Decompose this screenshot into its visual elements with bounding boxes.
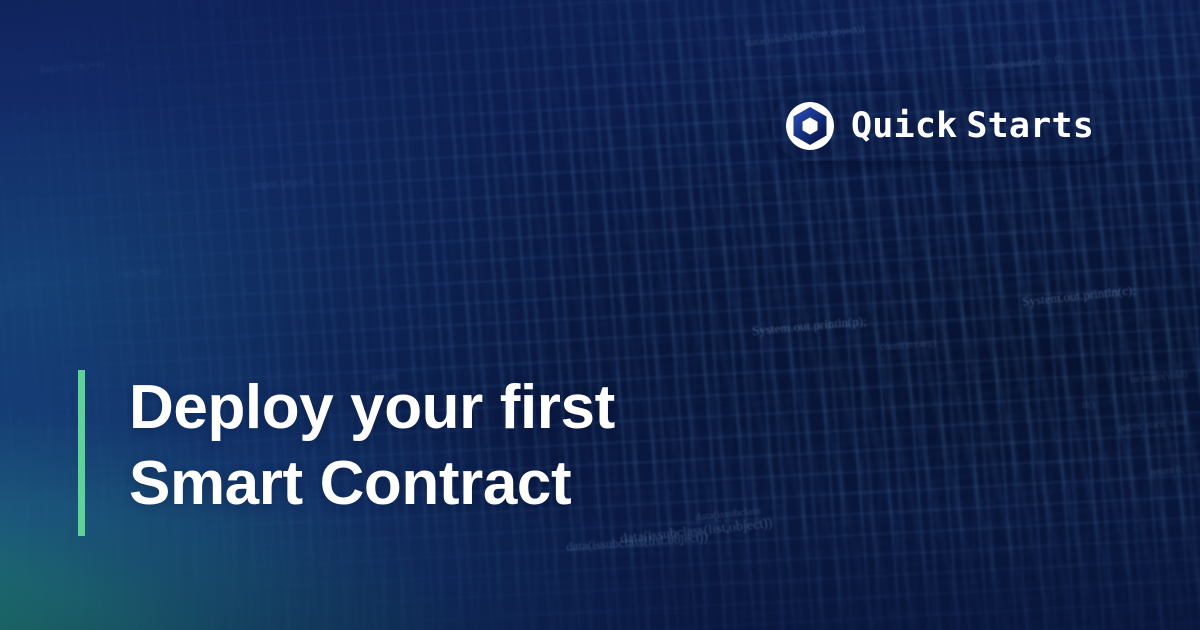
accent-bar: [78, 370, 85, 536]
page-title-line-2: Smart Contract: [129, 446, 615, 522]
page-title: Deploy your first Smart Contract: [129, 370, 615, 536]
chainlink-hexagon-icon: [786, 102, 834, 150]
badge-label-starts: Starts: [966, 106, 1094, 146]
badge-label: QuickStarts: [851, 109, 1094, 144]
quickstarts-badge[interactable]: QuickStarts: [772, 91, 1123, 161]
page-title-line-1: Deploy your first: [129, 370, 615, 446]
headline-block: Deploy your first Smart Contract: [78, 370, 615, 536]
badge-label-quick: Quick: [851, 106, 957, 146]
social-card: data(issubclass(list,object))while(numbe…: [0, 0, 1200, 630]
